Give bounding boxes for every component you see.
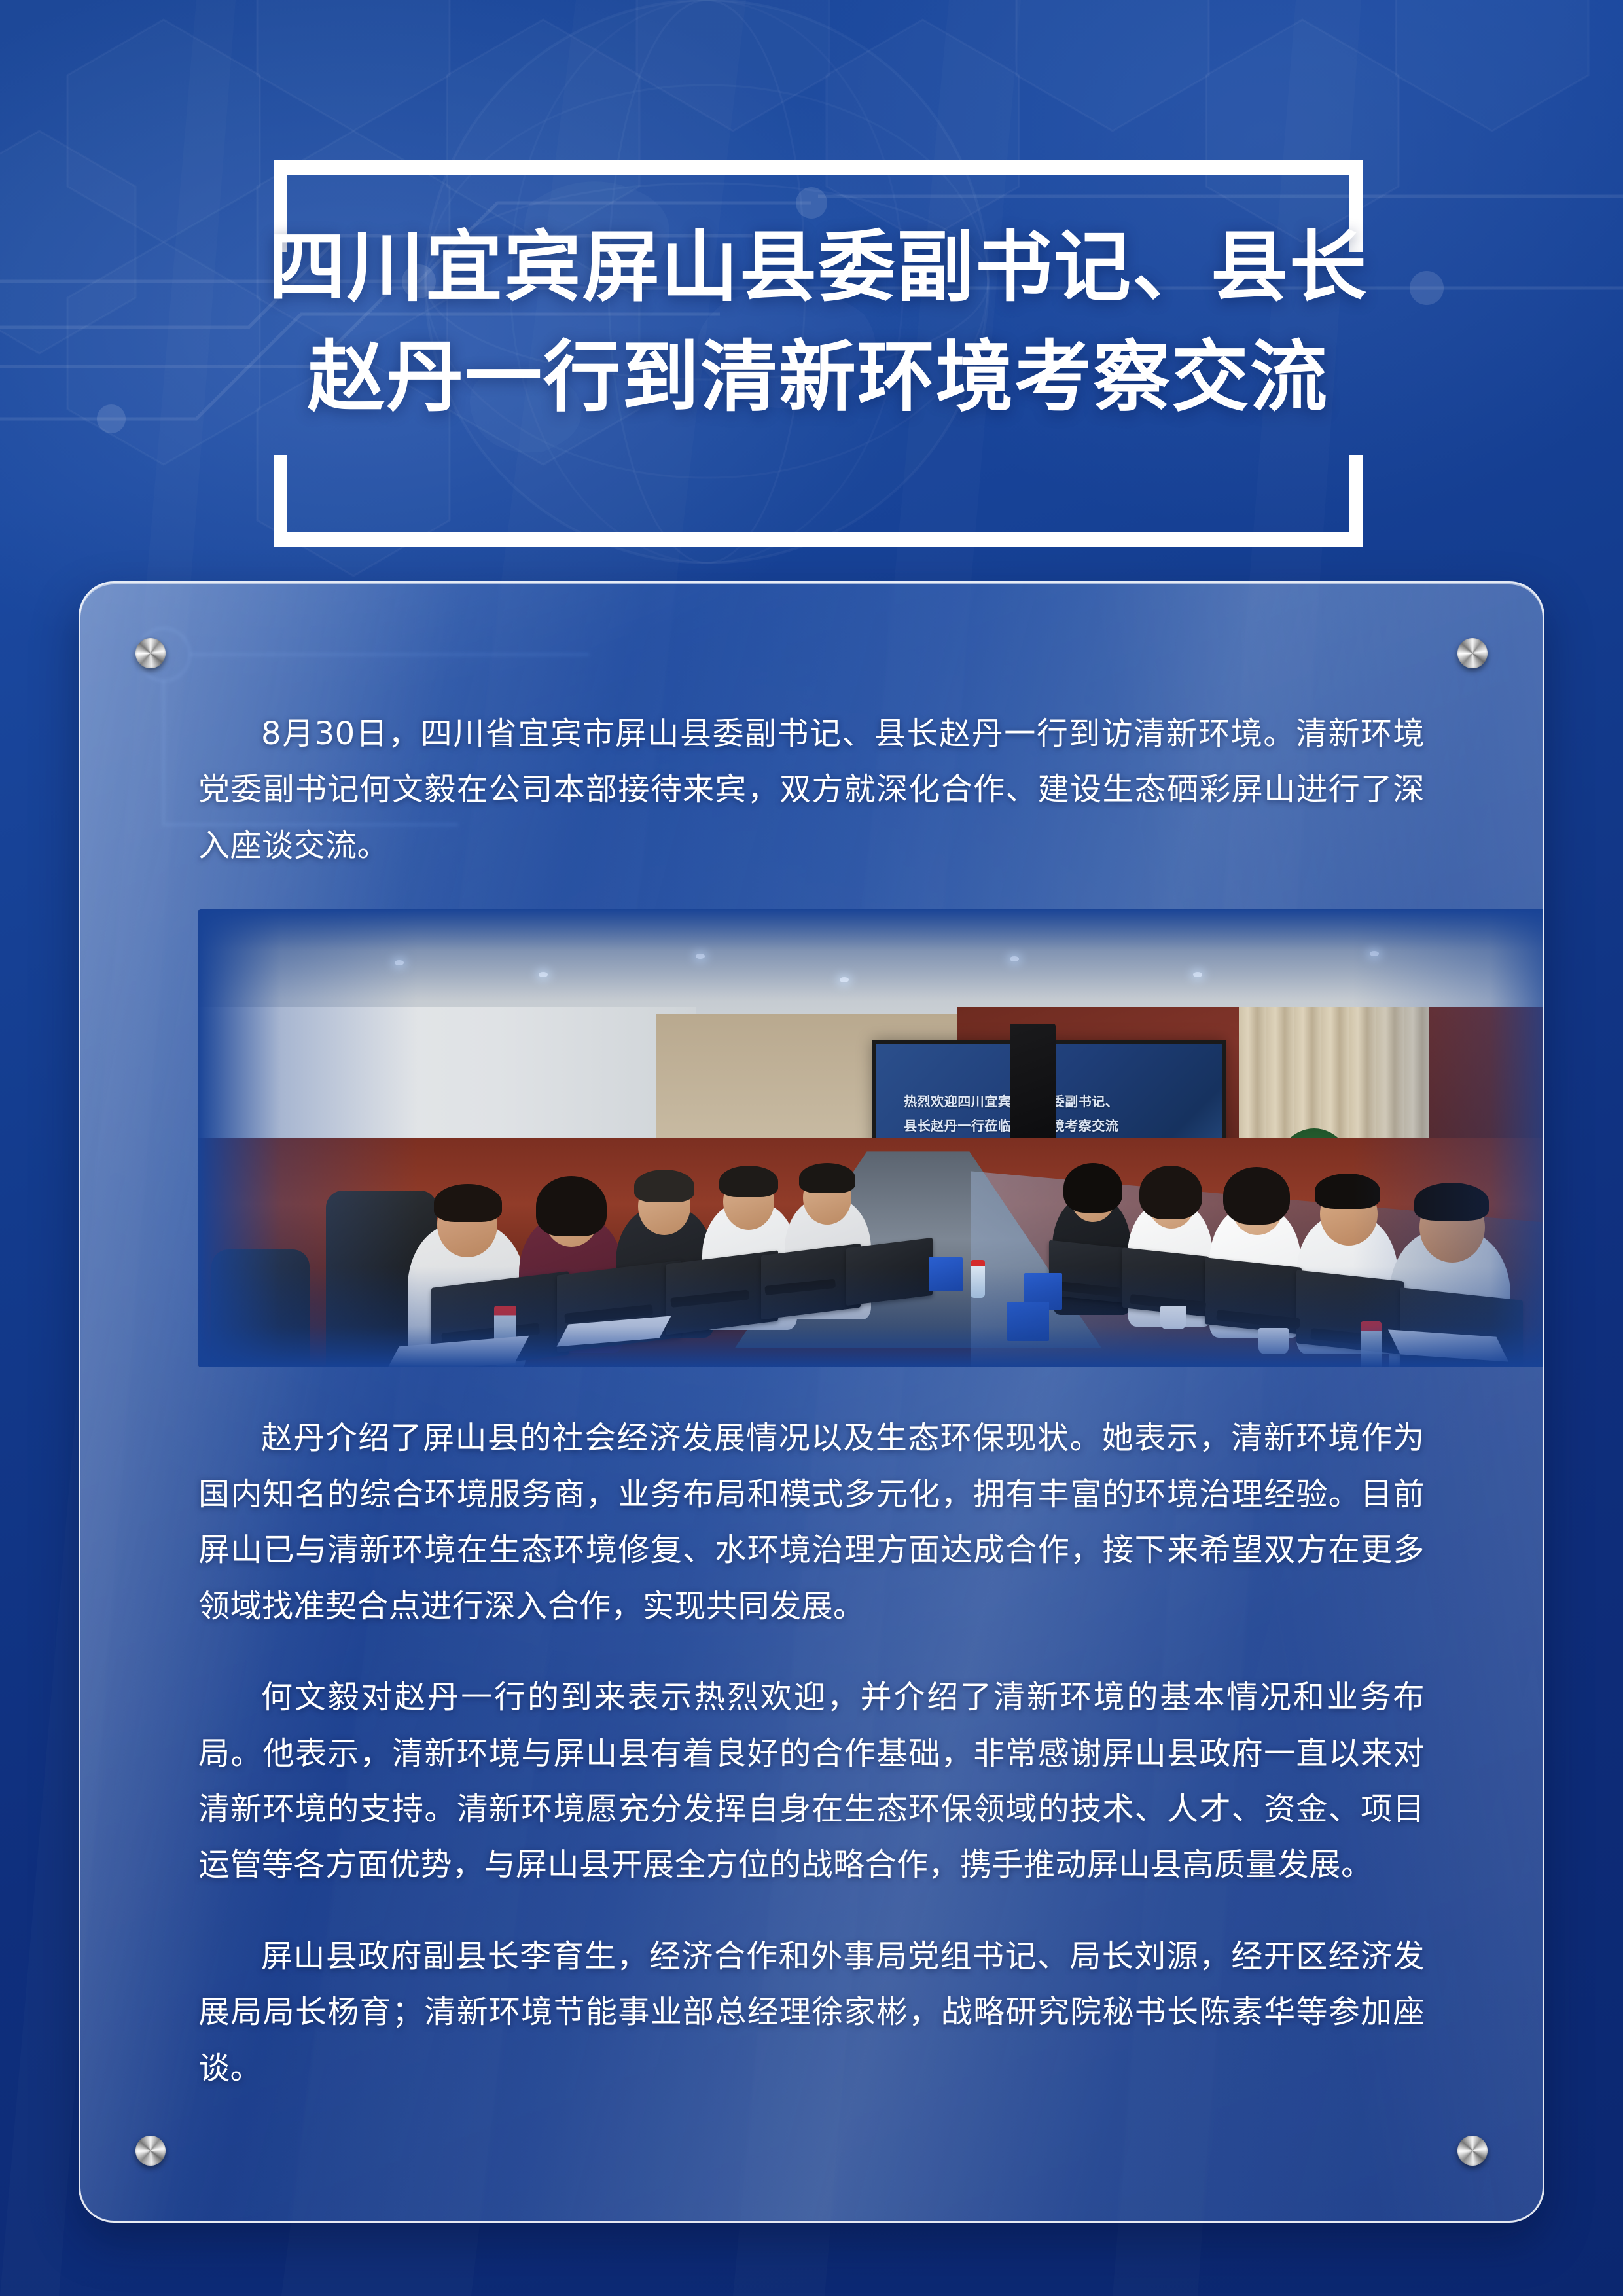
article-paragraph-3: 何文毅对赵丹一行的到来表示热烈欢迎，并介绍了清新环境的基本情况和业务布局。他表示… xyxy=(198,1670,1425,1893)
attendee-hair xyxy=(1414,1183,1489,1221)
title-line-1: 四川宜宾屏山县委副书记、县长 xyxy=(262,213,1374,323)
meeting-photo: 热烈欢迎四川宜宾屏山县委副书记、 县长赵丹一行莅临清新环境考察交流 清新环境 ·… xyxy=(198,909,1544,1367)
bolt-bottom-right-icon xyxy=(1457,2136,1488,2166)
article-paragraph-4: 屏山县政府副县长李育生，经济合作和外事局党组书记、局长刘源，经开区经济发展局局长… xyxy=(198,1929,1425,2096)
water-bottle xyxy=(971,1260,985,1298)
coffee-cup xyxy=(1258,1328,1289,1354)
attendee-hair xyxy=(799,1163,855,1193)
tissue-box xyxy=(1007,1302,1049,1341)
title-frame-top-bar xyxy=(274,160,1363,175)
wall-speaker xyxy=(1010,1024,1056,1148)
tissue-box xyxy=(929,1257,963,1291)
article-glass-card: 8月30日，四川省宜宾市屏山县委副书记、县长赵丹一行到访清新环境。清新环境党委副… xyxy=(79,581,1544,2223)
attendee-hair xyxy=(634,1170,694,1202)
attendee-hair xyxy=(536,1176,607,1236)
title-line-2: 赵丹一行到清新环境考察交流 xyxy=(262,323,1374,433)
attendee-hair xyxy=(434,1184,502,1222)
bolt-bottom-left-icon xyxy=(135,2136,166,2166)
bolt-top-left-icon xyxy=(135,638,166,668)
laptop xyxy=(846,1238,933,1306)
coffee-cup xyxy=(1160,1306,1186,1329)
article-paragraph-1: 8月30日，四川省宜宾市屏山县委副书记、县长赵丹一行到访清新环境。清新环境党委副… xyxy=(198,706,1425,874)
attendee-hair xyxy=(1223,1167,1290,1225)
attendee-hair xyxy=(1063,1163,1122,1213)
office-chair xyxy=(211,1249,310,1367)
article-body: 8月30日，四川省宜宾市屏山县委副书记、县长赵丹一行到访清新环境。清新环境党委副… xyxy=(198,706,1425,2132)
poster-root: 四川宜宾屏山县委副书记、县长 赵丹一行到清新环境考察交流 8月30日，四川省宜宾… xyxy=(0,0,1623,2296)
attendee-hair xyxy=(1139,1166,1202,1219)
poster-title-frame: 四川宜宾屏山县委副书记、县长 赵丹一行到清新环境考察交流 xyxy=(262,160,1374,547)
water-bottle xyxy=(1361,1321,1382,1367)
title-frame-right-lower xyxy=(1349,455,1363,547)
attendee-hair xyxy=(1315,1174,1380,1209)
page-title: 四川宜宾屏山县委副书记、县长 赵丹一行到清新环境考察交流 xyxy=(262,213,1374,432)
bolt-top-right-icon xyxy=(1457,638,1488,668)
article-paragraph-2: 赵丹介绍了屏山县的社会经济发展情况以及生态环保现状。她表示，清新环境作为国内知名… xyxy=(198,1410,1425,1634)
title-frame-bottom-bar xyxy=(274,532,1363,547)
attendee-hair xyxy=(719,1166,778,1197)
title-frame-left-lower xyxy=(274,455,287,547)
photo-scene: 热烈欢迎四川宜宾屏山县委副书记、 县长赵丹一行莅临清新环境考察交流 清新环境 ·… xyxy=(198,909,1544,1367)
